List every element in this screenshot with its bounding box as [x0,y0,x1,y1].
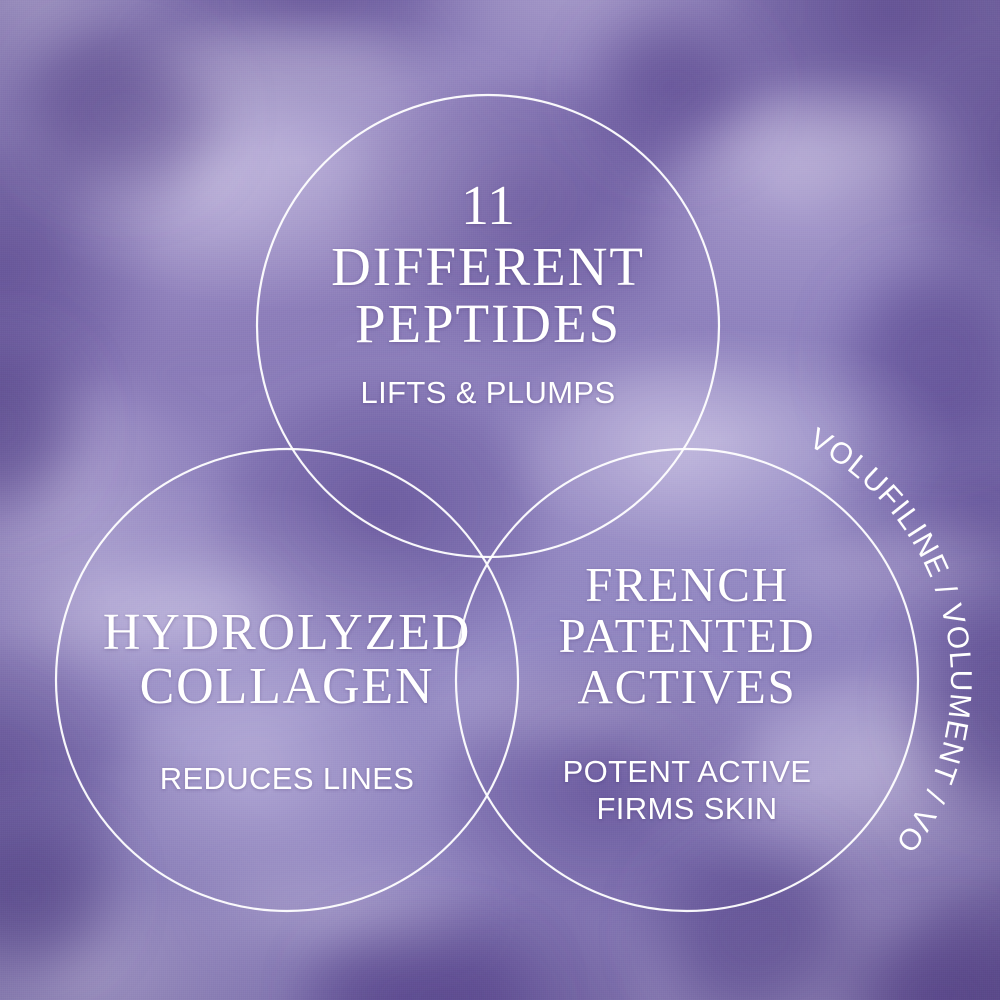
lobe-top-subtitle-line-1: LIFTS & PLUMPS [238,374,738,411]
venn-diagram [0,0,1000,1000]
lobe-right-heading-line-1: FRENCH [468,560,906,611]
venn-lobe-right: FRENCH PATENTED ACTIVES POTENT ACTIVE FI… [468,560,906,827]
lobe-right-subtitle: POTENT ACTIVE FIRMS SKIN [468,753,906,827]
lobe-right-subtitle-line-2: FIRMS SKIN [468,790,906,827]
lobe-left-subtitle-line-1: REDUCES LINES [42,760,532,797]
lobe-top-subtitle: LIFTS & PLUMPS [238,374,738,411]
lobe-left-subtitle: REDUCES LINES [42,760,532,797]
lobe-top-number: 11 [238,178,738,234]
venn-ingredient-graphic: 11 DIFFERENT PEPTIDES LIFTS & PLUMPS HYD… [0,0,1000,1000]
lobe-top-heading: DIFFERENT PEPTIDES [238,238,738,352]
lobe-top-heading-line-1: DIFFERENT [238,238,738,295]
lobe-top-heading-line-2: PEPTIDES [238,295,738,352]
lobe-right-heading-line-2: PATENTED [468,611,906,662]
lobe-right-heading: FRENCH PATENTED ACTIVES [468,560,906,713]
venn-lobe-left: HYDROLYZED COLLAGEN REDUCES LINES [42,606,532,797]
lobe-left-heading-line-2: COLLAGEN [42,660,532,714]
lobe-right-heading-line-3: ACTIVES [468,662,906,713]
lobe-left-heading-line-1: HYDROLYZED [42,606,532,660]
lobe-right-subtitle-line-1: POTENT ACTIVE [468,753,906,790]
venn-lobe-top: 11 DIFFERENT PEPTIDES LIFTS & PLUMPS [238,178,738,412]
lobe-left-heading: HYDROLYZED COLLAGEN [42,606,532,714]
